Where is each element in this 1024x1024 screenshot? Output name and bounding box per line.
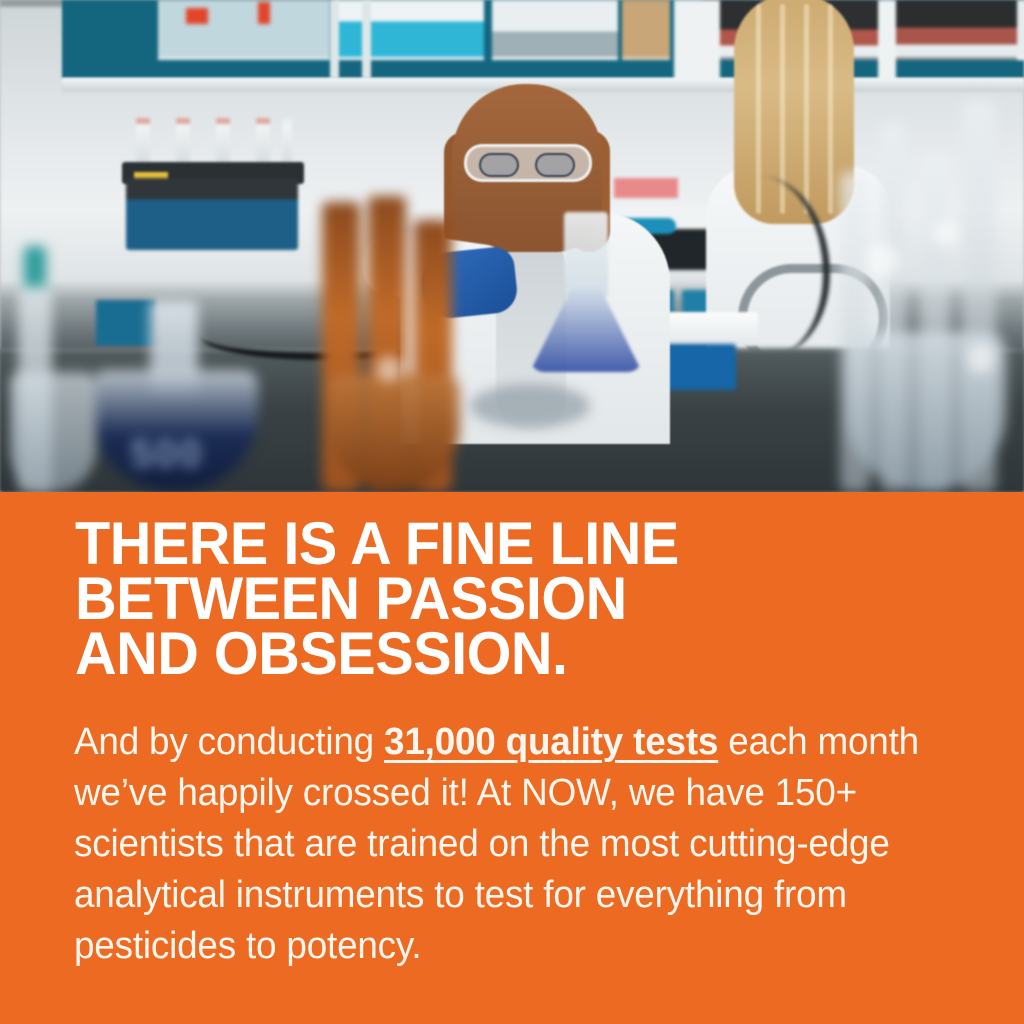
foreground-glassware-right (836, 44, 1024, 492)
promo-poster: 500 THERE IS A FINE LIN (0, 0, 1024, 1024)
headline-line-2: BETWEEN PASSION (75, 571, 939, 626)
body-paragraph: And by conducting 31,000 quality tests e… (74, 717, 928, 972)
cabinet-pane (334, 0, 484, 60)
cabinet-mullion (362, 0, 371, 78)
lab-photo: 500 (0, 0, 1024, 492)
cabinet-pane (492, 0, 618, 60)
petri-dish (470, 318, 590, 428)
highlight-stat: 31,000 quality tests (384, 721, 718, 763)
cabinet-pane (158, 0, 330, 60)
orange-message-panel: THERE IS A FINE LINE BETWEEN PASSION AND… (0, 492, 1024, 1024)
flask-500ml: 500 (92, 300, 258, 490)
cabinet-pane (622, 0, 670, 60)
safety-goggles-icon (464, 144, 592, 182)
amber-glassware (316, 196, 466, 492)
foreground-glassware-left (0, 330, 100, 492)
cabinet-item (258, 2, 270, 24)
test-tube-rack (136, 118, 296, 166)
body-text-before: And by conducting (74, 721, 384, 763)
headline-line-3: AND OBSESSION. (75, 626, 939, 681)
lens (479, 153, 519, 177)
page-title: THERE IS A FINE LINE BETWEEN PASSION AND… (75, 516, 939, 681)
lens (535, 153, 575, 177)
headline-line-1: THERE IS A FINE LINE (75, 516, 939, 571)
lab-instrument-left (126, 178, 298, 250)
cabinet-mullion (330, 0, 339, 78)
flask-volume-label: 500 (112, 432, 222, 476)
cabinet-item (186, 8, 208, 24)
